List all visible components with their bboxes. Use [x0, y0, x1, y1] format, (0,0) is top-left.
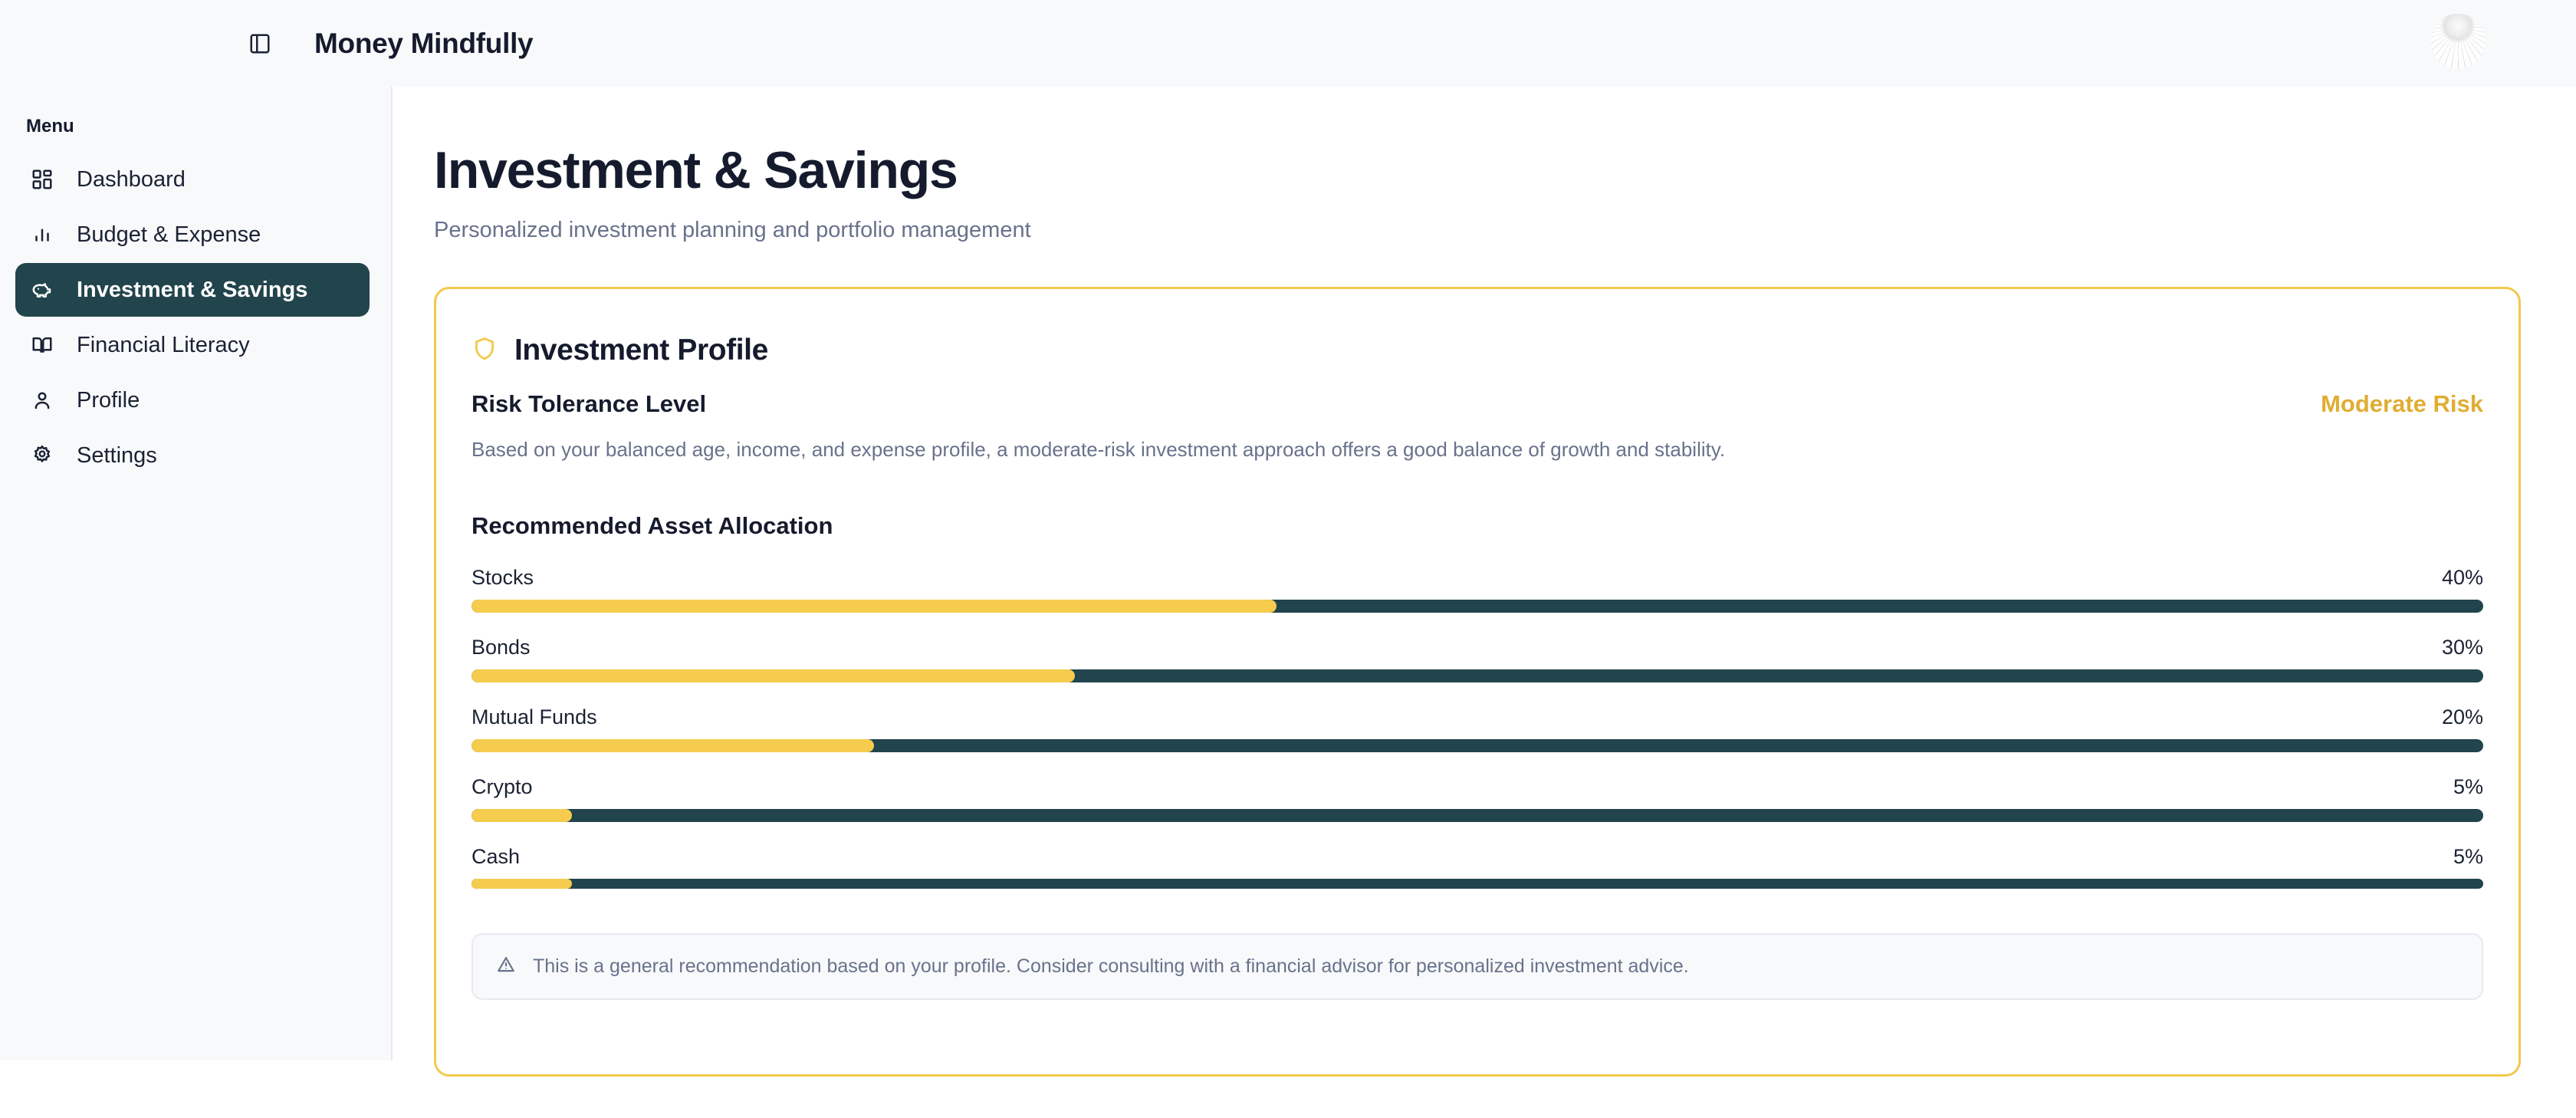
- card-title: Investment Profile: [514, 334, 768, 367]
- app-body: Menu Dashboard Budget & Expense: [0, 87, 2576, 1118]
- allocation-value: 30%: [2442, 636, 2483, 659]
- shield-icon: [472, 336, 498, 366]
- allocation-row: Cash 5%: [472, 845, 2483, 889]
- sidebar-item-label: Settings: [77, 443, 157, 469]
- allocation-progress-fill: [472, 879, 572, 889]
- sidebar-item-financial-literacy[interactable]: Financial Literacy: [15, 318, 370, 372]
- sidebar-item-label: Financial Literacy: [77, 333, 250, 358]
- allocation-progress-track: [472, 739, 2483, 752]
- allocation-label: Bonds: [472, 636, 531, 659]
- allocation-row: Mutual Funds 20%: [472, 705, 2483, 752]
- allocation-progress-fill: [472, 739, 874, 752]
- allocation-label: Crypto: [472, 775, 533, 799]
- top-bar: Money Mindfully: [0, 0, 2576, 87]
- sidebar-item-settings[interactable]: Settings: [15, 429, 370, 482]
- status-badge: Moderate Risk: [2321, 390, 2483, 418]
- allocation-row: Stocks 40%: [472, 566, 2483, 613]
- page-title: Investment & Savings: [434, 143, 2521, 198]
- sidebar: Menu Dashboard Budget & Expense: [0, 87, 393, 1060]
- allocation-label: Stocks: [472, 566, 534, 590]
- bar-chart-icon: [29, 222, 55, 248]
- risk-tolerance-description: Based on your balanced age, income, and …: [472, 438, 2483, 462]
- investment-profile-card: Investment Profile Risk Tolerance Level …: [434, 287, 2521, 1077]
- app-brand-title: Money Mindfully: [314, 28, 533, 60]
- piggy-bank-icon: [29, 277, 55, 303]
- allocation-value: 40%: [2442, 566, 2483, 590]
- sidebar-item-label: Budget & Expense: [77, 222, 261, 248]
- avatar[interactable]: [2430, 14, 2486, 69]
- allocation-value: 20%: [2442, 705, 2483, 729]
- sidebar-item-dashboard[interactable]: Dashboard: [15, 153, 370, 206]
- sidebar-item-label: Investment & Savings: [77, 278, 307, 303]
- page-subtitle: Personalized investment planning and por…: [434, 218, 2521, 243]
- sidebar-item-investment-savings[interactable]: Investment & Savings: [15, 263, 370, 317]
- risk-tolerance-heading: Risk Tolerance Level: [472, 390, 706, 418]
- risk-tolerance-row: Risk Tolerance Level Moderate Risk: [472, 390, 2483, 418]
- app-root: Money Mindfully Menu Dashboard: [0, 0, 2576, 1118]
- allocation-value: 5%: [2453, 845, 2483, 869]
- main-content: Investment & Savings Personalized invest…: [393, 87, 2576, 1118]
- allocation-progress-track: [472, 879, 2483, 889]
- allocation-list: Stocks 40% Bonds 30%: [472, 566, 2483, 889]
- alert-triangle-icon: [496, 955, 516, 978]
- open-book-icon: [29, 332, 55, 358]
- user-icon: [29, 387, 55, 413]
- allocation-value: 5%: [2453, 775, 2483, 799]
- allocation-heading: Recommended Asset Allocation: [472, 512, 2483, 540]
- allocation-progress-fill: [472, 669, 1075, 682]
- avatar-image: [2430, 14, 2486, 69]
- allocation-progress-track: [472, 809, 2483, 822]
- allocation-progress-track: [472, 600, 2483, 613]
- sidebar-item-label: Profile: [77, 388, 140, 413]
- allocation-row: Crypto 5%: [472, 775, 2483, 822]
- sidebar-item-profile[interactable]: Profile: [15, 373, 370, 427]
- disclaimer-banner: This is a general recommendation based o…: [472, 933, 2483, 1000]
- top-bar-left: Money Mindfully: [0, 28, 533, 60]
- allocation-row: Bonds 30%: [472, 636, 2483, 682]
- allocation-label: Cash: [472, 845, 520, 869]
- allocation-progress-fill: [472, 600, 1276, 613]
- sidebar-section-label: Menu: [15, 108, 370, 153]
- sidebar-item-budget-expense[interactable]: Budget & Expense: [15, 208, 370, 261]
- allocation-progress-fill: [472, 809, 572, 822]
- gear-icon: [29, 442, 55, 469]
- sidebar-item-label: Dashboard: [77, 167, 186, 192]
- disclaimer-text: This is a general recommendation based o…: [533, 955, 1689, 978]
- card-header: Investment Profile: [472, 320, 2483, 390]
- allocation-label: Mutual Funds: [472, 705, 597, 729]
- layout-grid-icon: [29, 166, 55, 192]
- allocation-progress-track: [472, 669, 2483, 682]
- panel-left-icon[interactable]: [244, 28, 276, 60]
